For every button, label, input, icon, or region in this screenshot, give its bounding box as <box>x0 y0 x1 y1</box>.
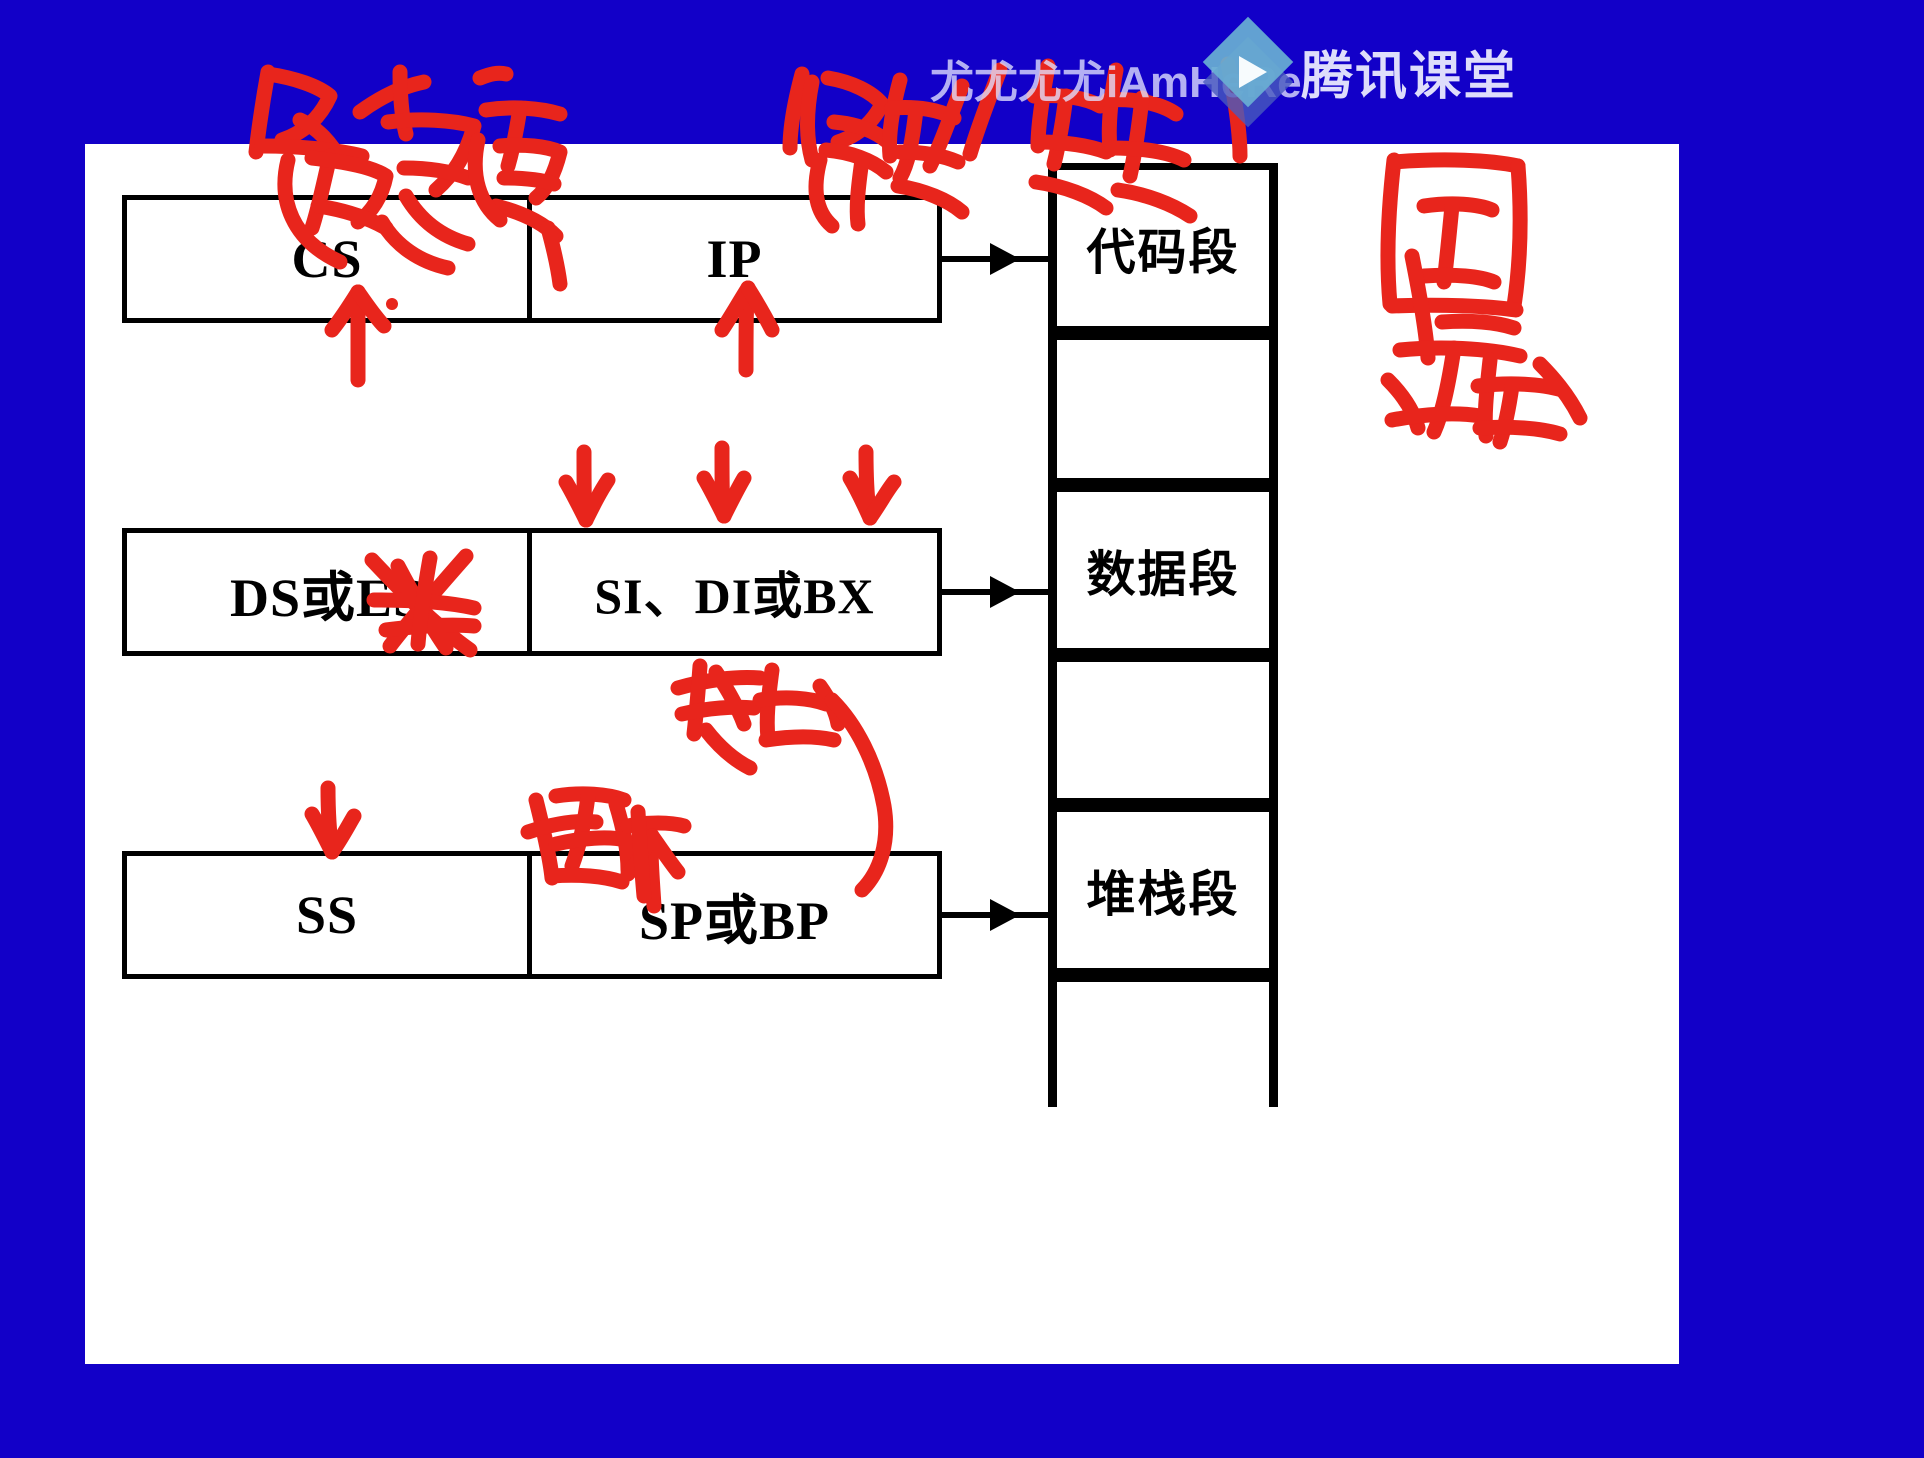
slide-canvas: CS IP DS或ES SI、DI或BX SS SP或BP 代码段 数据段 堆栈… <box>85 144 1679 1364</box>
arrowhead-data <box>990 576 1020 608</box>
memory-cell-gap-3 <box>1057 975 1269 1101</box>
offset-register-sp-bp: SP或BP <box>532 856 937 974</box>
segment-register-cs: CS <box>127 200 532 318</box>
memory-cell-code: 代码段 <box>1057 163 1269 333</box>
segment-register-ss: SS <box>127 856 532 974</box>
watermark-brand-text: 腾讯课堂 <box>1301 34 1517 109</box>
offset-register-ip: IP <box>532 200 937 318</box>
offset-register-si-di-bx: SI、DI或BX <box>532 533 937 651</box>
register-row-data: DS或ES SI、DI或BX <box>122 528 942 656</box>
memory-cell-gap-2 <box>1057 655 1269 805</box>
arrowhead-code <box>990 243 1020 275</box>
memory-cell-stack: 堆栈段 <box>1057 805 1269 975</box>
video-frame: CS IP DS或ES SI、DI或BX SS SP或BP 代码段 数据段 堆栈… <box>0 0 1924 1458</box>
segment-register-ds-es: DS或ES <box>127 533 532 651</box>
tencent-classroom-logo-icon <box>1205 28 1291 114</box>
memory-cell-gap-1 <box>1057 333 1269 485</box>
memory-column: 代码段 数据段 堆栈段 <box>1048 163 1278 1107</box>
register-row-stack: SS SP或BP <box>122 851 942 979</box>
memory-cell-data: 数据段 <box>1057 485 1269 655</box>
watermark-brand: 腾讯课堂 <box>1205 28 1517 114</box>
register-row-code: CS IP <box>122 195 942 323</box>
arrowhead-stack <box>990 899 1020 931</box>
